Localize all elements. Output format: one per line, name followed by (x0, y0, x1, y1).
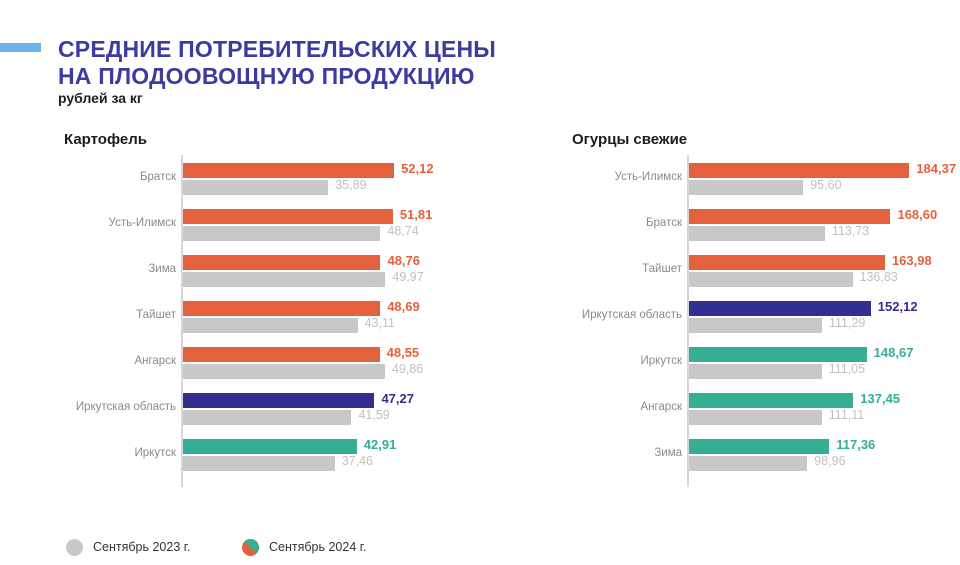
value-label-previous-year: 48,74 (387, 224, 418, 238)
chart-row: Усть-Илимск184,3795,60 (566, 159, 960, 205)
chart-row: Усть-Илимск51,8148,74 (58, 205, 478, 251)
page-title: СРЕДНИЕ ПОТРЕБИТЕЛЬСКИХ ЦЕНЫ НА ПЛОДООВО… (58, 36, 678, 90)
bar-current-year (183, 163, 394, 178)
category-label: Братск (58, 171, 176, 183)
chart-row: Братск52,1235,89 (58, 159, 478, 205)
bar-previous-year (183, 318, 358, 333)
value-label-previous-year: 113,73 (832, 224, 869, 238)
bar-previous-year (183, 180, 328, 195)
category-label: Тайшет (58, 309, 176, 321)
chart-row: Ангарск137,45111,11 (566, 389, 960, 435)
bar-current-year (183, 347, 380, 362)
chart-row: Ангарск48,5549,86 (58, 343, 478, 389)
chart-row: Тайшет163,98136,83 (566, 251, 960, 297)
category-label: Тайшет (566, 263, 682, 275)
value-label-previous-year: 111,05 (829, 362, 865, 376)
bar-current-year (183, 393, 374, 408)
chart-row: Тайшет48,6943,11 (58, 297, 478, 343)
category-label: Братск (566, 217, 682, 229)
bar-previous-year (689, 318, 822, 333)
bar-previous-year (689, 456, 807, 471)
legend-label: Сентябрь 2024 г. (269, 540, 366, 554)
value-label-current-year: 117,36 (836, 437, 875, 452)
category-label: Усть-Илимск (566, 171, 682, 183)
value-label-current-year: 47,27 (381, 391, 414, 406)
value-label-previous-year: 95,60 (810, 178, 841, 192)
chart-row: Братск168,60113,73 (566, 205, 960, 251)
category-label: Ангарск (566, 401, 682, 413)
bar-previous-year (689, 226, 825, 241)
chart-title: Картофель (64, 131, 147, 148)
chart-row: Иркутская область152,12111,29 (566, 297, 960, 343)
bar-current-year (183, 301, 380, 316)
bar-current-year (183, 209, 393, 224)
bar-previous-year (183, 364, 385, 379)
category-label: Зима (566, 447, 682, 459)
value-label-previous-year: 49,97 (392, 270, 423, 284)
bar-current-year (183, 255, 380, 270)
value-label-current-year: 48,76 (387, 253, 420, 268)
value-label-previous-year: 35,89 (335, 178, 366, 192)
value-label-current-year: 184,37 (916, 161, 956, 176)
value-label-current-year: 168,60 (897, 207, 937, 222)
chart-row: Иркутск148,67111,05 (566, 343, 960, 389)
value-label-previous-year: 43,11 (365, 316, 395, 330)
legend-label: Сентябрь 2023 г. (93, 540, 190, 554)
value-label-current-year: 152,12 (878, 299, 918, 314)
bar-current-year (689, 163, 909, 178)
value-label-current-year: 52,12 (401, 161, 434, 176)
bar-current-year (183, 439, 357, 454)
category-label: Иркутская область (566, 309, 682, 321)
value-label-current-year: 163,98 (892, 253, 932, 268)
bar-previous-year (183, 410, 351, 425)
bar-previous-year (689, 180, 803, 195)
chart-plot-area: Усть-Илимск184,3795,60Братск168,60113,73… (566, 155, 960, 495)
chart-panel-potatoes: Картофель Братск52,1235,89Усть-Илимск51,… (58, 125, 478, 505)
value-label-current-year: 148,67 (874, 345, 914, 360)
accent-bar (0, 43, 41, 52)
value-label-previous-year: 111,29 (829, 316, 865, 330)
chart-row: Иркутская область47,2741,59 (58, 389, 478, 435)
chart-panel-cucumbers: Огурцы свежие Усть-Илимск184,3795,60Брат… (566, 125, 960, 505)
value-label-current-year: 48,69 (387, 299, 420, 314)
bar-current-year (689, 393, 853, 408)
chart-row: Зима48,7649,97 (58, 251, 478, 297)
category-label: Зима (58, 263, 176, 275)
category-label: Усть-Илимск (58, 217, 176, 229)
bar-previous-year (689, 410, 822, 425)
bar-previous-year (689, 272, 853, 287)
chart-title: Огурцы свежие (572, 131, 687, 148)
value-label-current-year: 137,45 (860, 391, 900, 406)
grey-circle-icon (66, 539, 83, 556)
bar-previous-year (183, 226, 380, 241)
value-label-previous-year: 111,11 (829, 408, 864, 422)
value-label-current-year: 48,55 (387, 345, 420, 360)
chart-row: Иркутск42,9137,46 (58, 435, 478, 481)
bar-current-year (689, 301, 871, 316)
value-label-previous-year: 136,83 (860, 270, 898, 284)
bar-current-year (689, 347, 867, 362)
category-label: Иркутск (566, 355, 682, 367)
bar-current-year (689, 439, 829, 454)
bar-current-year (689, 255, 885, 270)
bar-previous-year (183, 456, 335, 471)
bar-previous-year (689, 364, 822, 379)
value-label-previous-year: 49,86 (392, 362, 423, 376)
chart-row: Зима117,3698,96 (566, 435, 960, 481)
chart-plot-area: Братск52,1235,89Усть-Илимск51,8148,74Зим… (58, 155, 478, 495)
value-label-previous-year: 41,59 (358, 408, 389, 422)
value-label-current-year: 42,91 (364, 437, 397, 452)
infographic-page: СРЕДНИЕ ПОТРЕБИТЕЛЬСКИХ ЦЕНЫ НА ПЛОДООВО… (0, 0, 960, 565)
split-circle-icon (242, 539, 259, 556)
page-subtitle: рублей за кг (58, 90, 143, 106)
value-label-previous-year: 98,96 (814, 454, 845, 468)
category-label: Иркутск (58, 447, 176, 459)
value-label-current-year: 51,81 (400, 207, 433, 222)
bar-current-year (689, 209, 890, 224)
category-label: Иркутская область (58, 401, 176, 413)
category-label: Ангарск (58, 355, 176, 367)
bar-previous-year (183, 272, 385, 287)
value-label-previous-year: 37,46 (342, 454, 373, 468)
